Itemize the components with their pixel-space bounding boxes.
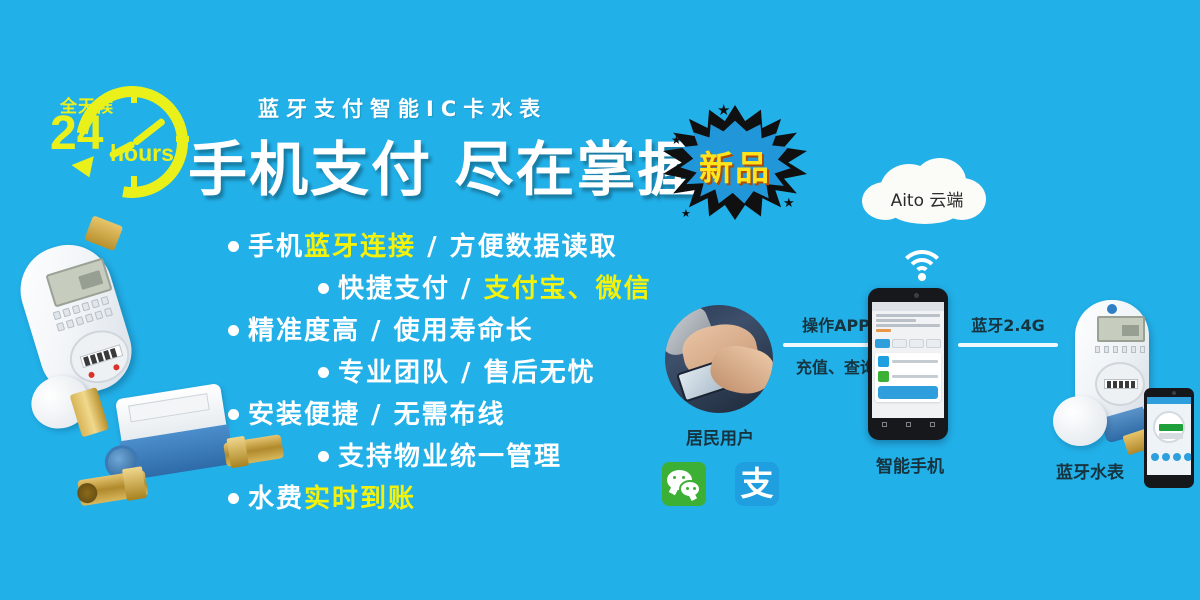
alipay-icon[interactable]: 支 <box>735 462 779 506</box>
new-product-label: 新品 <box>655 141 815 190</box>
feature-text-pre: 快捷支付 / <box>338 274 484 304</box>
wechat-small-icon <box>878 371 889 382</box>
mini-phone-meter-gauge <box>1153 411 1185 443</box>
list-item: 水费实时到账 <box>228 486 698 512</box>
smartphone-label: 智能手机 <box>855 452 965 477</box>
phone-screen <box>872 302 944 418</box>
meter-brass-fitting <box>84 215 123 251</box>
valve-meter-label-plate <box>128 393 210 422</box>
banner-subtitle: 蓝牙支付智能IC卡水表 <box>258 93 547 123</box>
phone-tab-row <box>872 337 944 350</box>
badge-hours-label: hours <box>110 140 174 167</box>
phone-wechat-option <box>878 371 938 382</box>
list-item: 手机蓝牙连接 / 方便数据读取 <box>228 234 698 260</box>
feature-text-highlight: 蓝牙连接 <box>304 232 416 262</box>
mini-phone-app-header <box>1147 397 1191 404</box>
star-icon: ★ <box>681 207 691 220</box>
phone-confirm-button <box>878 386 938 399</box>
smartphone-device <box>868 288 948 440</box>
cloud-label: Aito 云端 <box>862 186 992 211</box>
phone-home-icon <box>906 422 911 427</box>
phone-payment-card <box>875 353 941 402</box>
banner-headline: 手机支付 尽在掌握 <box>188 122 699 207</box>
bluetooth-meter-label: 蓝牙水表 <box>1035 458 1145 483</box>
mini-phone-digits-green <box>1159 424 1183 431</box>
badge-number-label: 24 <box>50 110 103 158</box>
list-item: 快捷支付 / 支付宝、微信 <box>228 276 698 302</box>
bt-meter-lcd-display <box>1097 316 1145 342</box>
phone-info-rows <box>872 311 944 337</box>
bullet-dot-icon <box>318 367 329 378</box>
phone-nav-bar <box>872 418 944 430</box>
mini-smartphone-device <box>1144 388 1194 488</box>
list-item: 专业团队 / 售后无忧 <box>228 360 698 386</box>
bullet-dot-icon <box>318 283 329 294</box>
feature-text-pre: 专业团队 / 售后无忧 <box>338 358 596 388</box>
alipay-glyph: 支 <box>735 462 779 506</box>
feature-text-pre: 精准度高 / 使用寿命长 <box>248 316 534 346</box>
feature-list: 手机蓝牙连接 / 方便数据读取 快捷支付 / 支付宝、微信 精准度高 / 使用寿… <box>228 234 698 528</box>
phone-alipay-option <box>878 356 938 367</box>
connector-line <box>958 343 1058 347</box>
alipay-small-icon <box>878 356 889 367</box>
phone-back-icon <box>882 422 887 427</box>
mini-phone-action-icons <box>1151 453 1191 461</box>
bt-meter-cap <box>1053 396 1107 446</box>
bullet-dot-icon <box>318 451 329 462</box>
clock-tick-top-icon <box>131 90 137 103</box>
bullet-dot-icon <box>228 325 239 336</box>
phone-recents-icon <box>930 422 935 427</box>
bt-meter-brand-icon <box>1107 304 1117 314</box>
resident-user-photo <box>665 305 773 413</box>
list-item: 精准度高 / 使用寿命长 <box>228 318 698 344</box>
cloud-service-node: Aito 云端 <box>862 158 992 230</box>
clock-tick-bottom-icon <box>131 176 137 189</box>
wechat-bubble-small <box>679 480 701 498</box>
wifi-icon <box>898 248 946 282</box>
connector-bluetooth: 蓝牙2.4G <box>958 312 1058 354</box>
wechat-pay-icon[interactable] <box>662 462 706 506</box>
star-icon: ★ <box>717 101 730 119</box>
list-item: 安装便捷 / 无需布线 <box>228 402 698 428</box>
resident-user-label: 居民用户 <box>660 424 780 449</box>
bt-meter-keypad <box>1095 346 1147 354</box>
mini-phone-digits-grey <box>1159 433 1183 439</box>
list-item: 支持物业统一管理 <box>228 444 698 470</box>
feature-text-highlight: 支付宝、微信 <box>484 274 652 304</box>
phone-app-header <box>872 302 944 311</box>
feature-text-pre: 手机 <box>248 232 304 262</box>
mini-phone-screen <box>1147 397 1191 475</box>
star-icon: ★ <box>783 195 795 211</box>
bt-meter-register <box>1104 379 1138 389</box>
feature-text-highlight: 实时到账 <box>304 484 416 514</box>
feature-text-pre: 支持物业统一管理 <box>338 442 562 472</box>
24-hours-clock-badge: 全天候 24 hours <box>48 84 190 202</box>
mini-phone-camera-icon <box>1172 391 1176 395</box>
bullet-dot-icon <box>228 241 239 252</box>
feature-text-post: / 方便数据读取 <box>416 232 618 262</box>
new-product-starburst: ★ ★ ★ ★ 新品 <box>655 95 815 230</box>
promo-banner: 全天候 24 hours 蓝牙支付智能IC卡水表 手机支付 尽在掌握 ★ ★ ★… <box>0 0 1200 600</box>
bt-meter-dial <box>1095 362 1145 406</box>
feature-text-pre: 安装便捷 / 无需布线 <box>248 400 506 430</box>
connector-bluetooth-label: 蓝牙2.4G <box>958 312 1058 336</box>
